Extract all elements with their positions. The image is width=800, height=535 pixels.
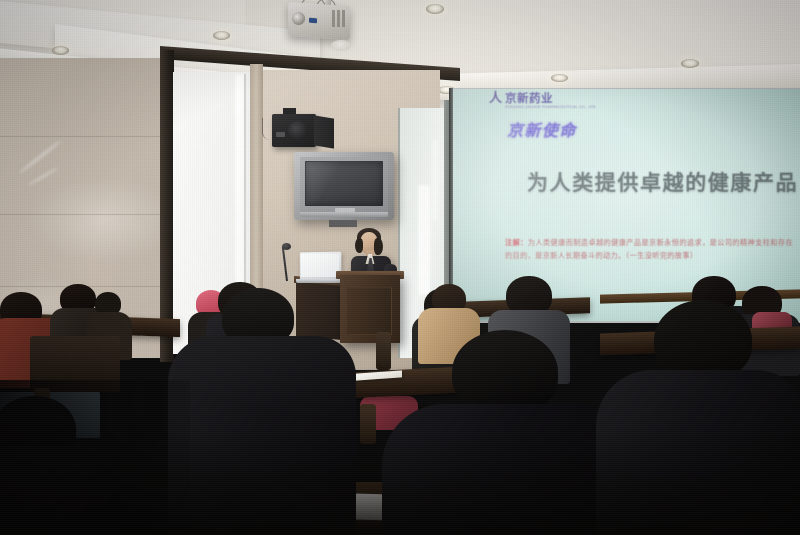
downlight-3 <box>426 4 444 14</box>
marble-seam-2 <box>0 214 168 215</box>
screen-vignette <box>451 89 800 321</box>
chair-arm-4 <box>376 332 391 370</box>
laptop-base <box>296 279 344 283</box>
tv-glare <box>306 162 340 205</box>
tv-bottom-strip <box>300 212 388 217</box>
downlight-6 <box>551 74 568 82</box>
glass-reflection-1 <box>418 185 430 295</box>
downlight-1 <box>52 46 69 55</box>
speaker-tweeter <box>276 132 285 137</box>
speaker-side-panel <box>314 115 334 148</box>
projector-vent-2 <box>337 10 340 27</box>
podium-side-cabinet <box>296 282 342 340</box>
microphone-icon <box>282 243 291 250</box>
laptop-screen-surface <box>301 254 339 277</box>
smoke-detector <box>331 40 351 51</box>
downlight-2 <box>213 31 230 40</box>
presenter-hair-right <box>374 238 383 255</box>
left-shadow <box>0 380 190 535</box>
window-frame-left <box>160 50 174 362</box>
glass-reflection-2 <box>432 140 438 220</box>
projector-indicator <box>309 18 317 24</box>
projector-vent-3 <box>342 10 345 27</box>
conference-room-photo: 人 京新药业 ZHEJIANG JINGXIN PHARMACEUTICAL C… <box>0 0 800 535</box>
podium-front-panel <box>347 287 392 335</box>
downlight-7 <box>681 59 699 68</box>
tv-brand-logo <box>335 208 355 212</box>
projector-lens <box>292 12 305 25</box>
marble-seam-1 <box>0 136 168 137</box>
speaker-cone <box>288 121 307 140</box>
projector-vent-1 <box>332 10 335 27</box>
presenter-hair-left <box>355 238 363 253</box>
